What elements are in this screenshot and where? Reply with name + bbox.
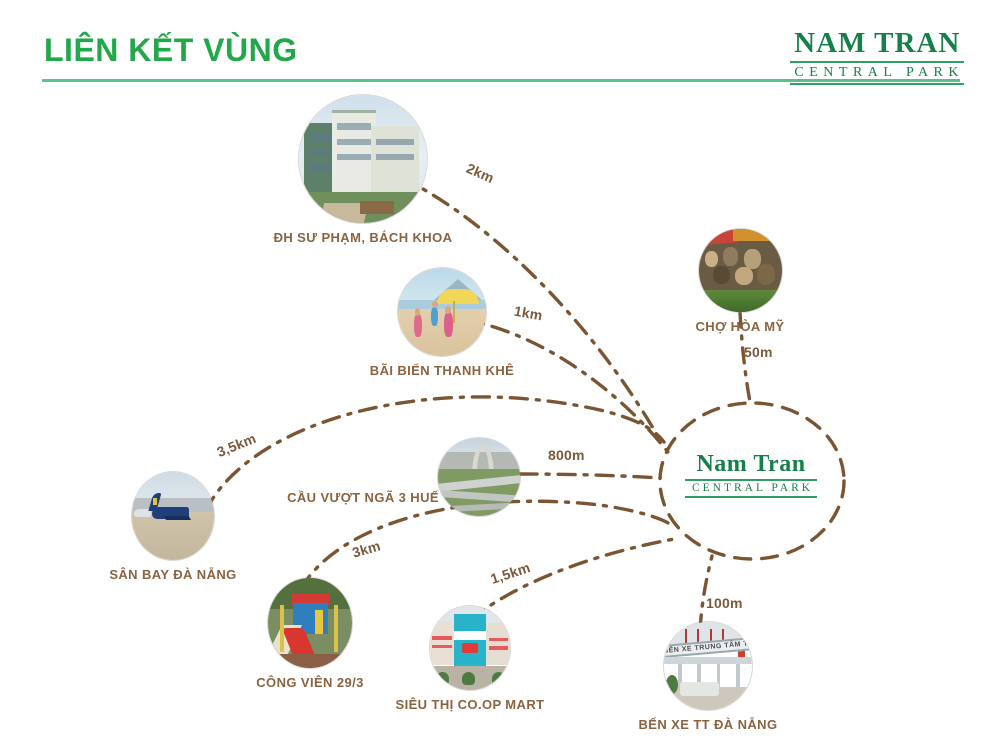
flyover-photo-icon <box>438 438 520 516</box>
center-hub-rule-top <box>685 479 817 481</box>
center-hub-name: Nam Tran <box>660 452 842 476</box>
center-hub-rule-bottom <box>685 496 817 498</box>
brand-logo: NAM TRAN CENTRAL PARK <box>790 29 964 85</box>
poi-supermarket[interactable]: SIÊU THỊ CO.OP MART <box>384 606 556 712</box>
bus-station-label: BẾN XE TT ĐÀ NẴNG <box>618 717 798 732</box>
brand-logo-rule-top <box>790 61 964 63</box>
center-hub-label: Nam Tran CENTRAL PARK <box>660 452 842 498</box>
market-label: CHỢ HÒA MỸ <box>660 319 820 334</box>
park-label: CÔNG VIÊN 29/3 <box>226 675 394 690</box>
poi-university[interactable]: ĐH SƯ PHẠM, BÁCH KHOA <box>253 95 473 245</box>
beach-photo-icon <box>398 268 486 356</box>
distance-bus-station: 100m <box>706 595 743 611</box>
poi-market[interactable]: CHỢ HÒA MỸ <box>660 229 820 334</box>
supermarket-photo-icon <box>430 606 510 690</box>
distance-supermarket: 1,5km <box>489 559 533 587</box>
connector-flyover <box>520 474 660 478</box>
page-title: LIÊN KẾT VÙNG <box>44 32 298 69</box>
brand-logo-sub: CENTRAL PARK <box>790 66 964 80</box>
university-label: ĐH SƯ PHẠM, BÁCH KHOA <box>253 230 473 245</box>
poi-flyover[interactable] <box>438 438 520 516</box>
university-photo-icon <box>299 95 427 223</box>
supermarket-label: SIÊU THỊ CO.OP MART <box>384 697 556 712</box>
infographic-page: LIÊN KẾT VÙNG NAM TRAN CENTRAL PARK <box>0 0 1000 741</box>
poi-airport[interactable]: SÂN BAY ĐÀ NẴNG <box>88 472 258 582</box>
distance-market: 50m <box>744 344 773 360</box>
brand-logo-main: NAM TRAN <box>790 29 964 58</box>
center-hub: Nam Tran CENTRAL PARK <box>660 405 842 557</box>
poi-park[interactable]: CÔNG VIÊN 29/3 <box>226 578 394 690</box>
flyover-label: CẦU VƯỢT NGÃ 3 HUẾ <box>283 490 443 505</box>
distance-park: 3km <box>350 537 382 560</box>
distance-airport: 3,5km <box>214 430 258 460</box>
airport-photo-icon <box>132 472 214 560</box>
market-photo-icon <box>699 229 782 312</box>
distance-flyover: 800m <box>548 447 585 463</box>
connector-bus-station <box>700 556 712 630</box>
playground-photo-icon <box>268 578 352 668</box>
poi-bus-station[interactable]: BẾN XE TRUNG TÂM TP BẾN XE TT ĐÀ NẴNG <box>618 622 798 732</box>
beach-label: BÃI BIỂN THANH KHÊ <box>352 363 532 378</box>
center-hub-subname: CENTRAL PARK <box>660 483 842 495</box>
bus-station-photo-icon: BẾN XE TRUNG TÂM TP <box>664 622 752 710</box>
poi-beach[interactable]: BÃI BIỂN THANH KHÊ <box>352 268 532 378</box>
brand-logo-rule-bottom <box>790 83 964 85</box>
